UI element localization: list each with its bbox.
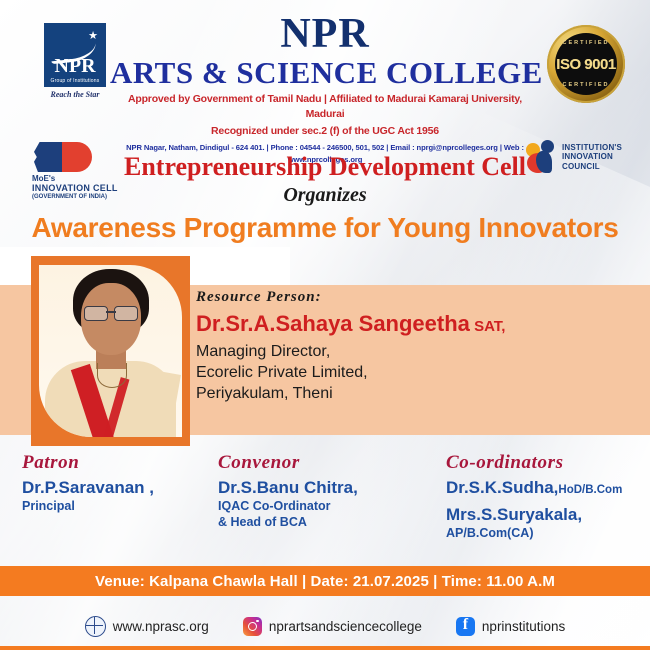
resource-person-suffix: SAT, — [470, 318, 506, 335]
iso-badge-label: ISO 9001 — [555, 56, 617, 73]
star-icon: ★ — [88, 31, 98, 42]
photo-glasses-icon — [84, 306, 138, 319]
header-center: NPR ARTS & SCIENCE COLLEGE Approved by G… — [110, 12, 540, 166]
edc-title: Entrepreneurship Development Cell — [0, 152, 650, 182]
venue-bar: Venue: Kalpana Chawla Hall | Date: 21.07… — [0, 566, 650, 596]
npr-logo-tagline: Reach the Star — [44, 87, 106, 103]
patron-title: Patron — [22, 452, 222, 474]
resource-person-location: Periyakulam, Theni — [196, 383, 636, 404]
poster-footer: www.nprasc.org nprartsandsciencecollege … — [0, 596, 650, 650]
resource-person-photo — [39, 265, 182, 437]
patron-name: Dr.P.Saravanan , — [22, 477, 222, 498]
resource-person-name-text: Dr.Sr.A.Sahaya Sangeetha — [196, 311, 470, 336]
footer-facebook[interactable]: nprinstitutions — [456, 617, 565, 636]
iso-9001-badge: CERTIFIED ISO 9001 CERTIFIED — [547, 25, 625, 103]
instagram-label: nprartsandsciencecollege — [269, 619, 422, 634]
venue-date-time-text: Venue: Kalpana Chawla Hall | Date: 21.07… — [95, 573, 555, 590]
committee-convenor: Convenor Dr.S.Banu Chitra, IQAC Co-Ordin… — [218, 452, 438, 530]
resource-person-organization: Ecorelic Private Limited, — [196, 362, 636, 383]
photo-chain — [97, 363, 127, 388]
committee-coordinators: Co-ordinators Dr.S.K.Sudha,HoD/B.Com Mrs… — [446, 452, 650, 541]
facebook-label: nprinstitutions — [482, 619, 565, 634]
convenor-title: Convenor — [218, 452, 438, 474]
coordinator-1-name: Dr.S.K.Sudha, — [446, 478, 558, 497]
npr-logo-text: NPR — [44, 56, 106, 76]
convenor-name: Dr.S.Banu Chitra, — [218, 477, 438, 498]
iso-badge-top-text: CERTIFIED — [555, 40, 617, 46]
organizes-label: Organizes — [0, 183, 650, 207]
coordinators-title: Co-ordinators — [446, 452, 650, 474]
committee-section: Patron Dr.P.Saravanan , Principal Conven… — [0, 452, 650, 562]
approval-line-2: Recognized under sec.2 (f) of the UGC Ac… — [110, 124, 540, 139]
npr-logo-subtext: Group of Institutions — [44, 78, 106, 84]
poster-header: ★ NPR Group of Institutions Reach the St… — [0, 0, 650, 146]
globe-icon — [85, 616, 106, 637]
programme-title: Awareness Programme for Young Innovators — [0, 211, 650, 245]
convenor-designation-1: IQAC Co-Ordinator — [218, 498, 438, 514]
glasses-bridge — [106, 311, 116, 313]
resource-person-photo-frame — [31, 256, 190, 446]
event-poster: ★ NPR Group of Institutions Reach the St… — [0, 0, 650, 650]
npr-college-logo: ★ NPR Group of Institutions Reach the St… — [44, 23, 106, 105]
bottom-accent-line — [0, 646, 650, 650]
college-name-short: NPR — [110, 12, 540, 56]
glasses-left-lens — [84, 306, 108, 321]
facebook-icon — [456, 617, 475, 636]
college-name-full: ARTS & SCIENCE COLLEGE — [110, 56, 540, 90]
footer-instagram[interactable]: nprartsandsciencecollege — [243, 617, 422, 636]
iso-badge-bottom-text: CERTIFIED — [555, 82, 617, 88]
instagram-icon — [243, 617, 262, 636]
patron-designation: Principal — [22, 498, 222, 514]
convenor-designation-2: & Head of BCA — [218, 514, 438, 530]
committee-patron: Patron Dr.P.Saravanan , Principal — [22, 452, 222, 514]
website-label: www.nprasc.org — [113, 619, 209, 634]
resource-person-label: Resource Person: — [196, 288, 636, 306]
resource-person-block: Resource Person: Dr.Sr.A.Sahaya Sangeeth… — [196, 288, 636, 404]
coordinator-2-name: Mrs.S.Suryakala, — [446, 504, 650, 525]
iso-badge-inner: CERTIFIED ISO 9001 CERTIFIED — [555, 33, 617, 95]
glasses-right-lens — [114, 306, 138, 321]
resource-person-name: Dr.Sr.A.Sahaya Sangeetha SAT, — [196, 310, 636, 341]
iic-line-1: INSTITUTION'S — [562, 143, 622, 153]
approval-line-1: Approved by Government of Tamil Nadu | A… — [110, 92, 540, 122]
coordinator-2-role: AP/B.Com(CA) — [446, 525, 650, 541]
coordinator-1-role: HoD/B.Com — [558, 484, 622, 496]
footer-website[interactable]: www.nprasc.org — [85, 616, 209, 637]
resource-person-role: Managing Director, — [196, 341, 636, 362]
coordinator-1: Dr.S.K.Sudha,HoD/B.Com — [446, 477, 650, 501]
npr-logo-mark: ★ NPR Group of Institutions — [44, 23, 106, 87]
